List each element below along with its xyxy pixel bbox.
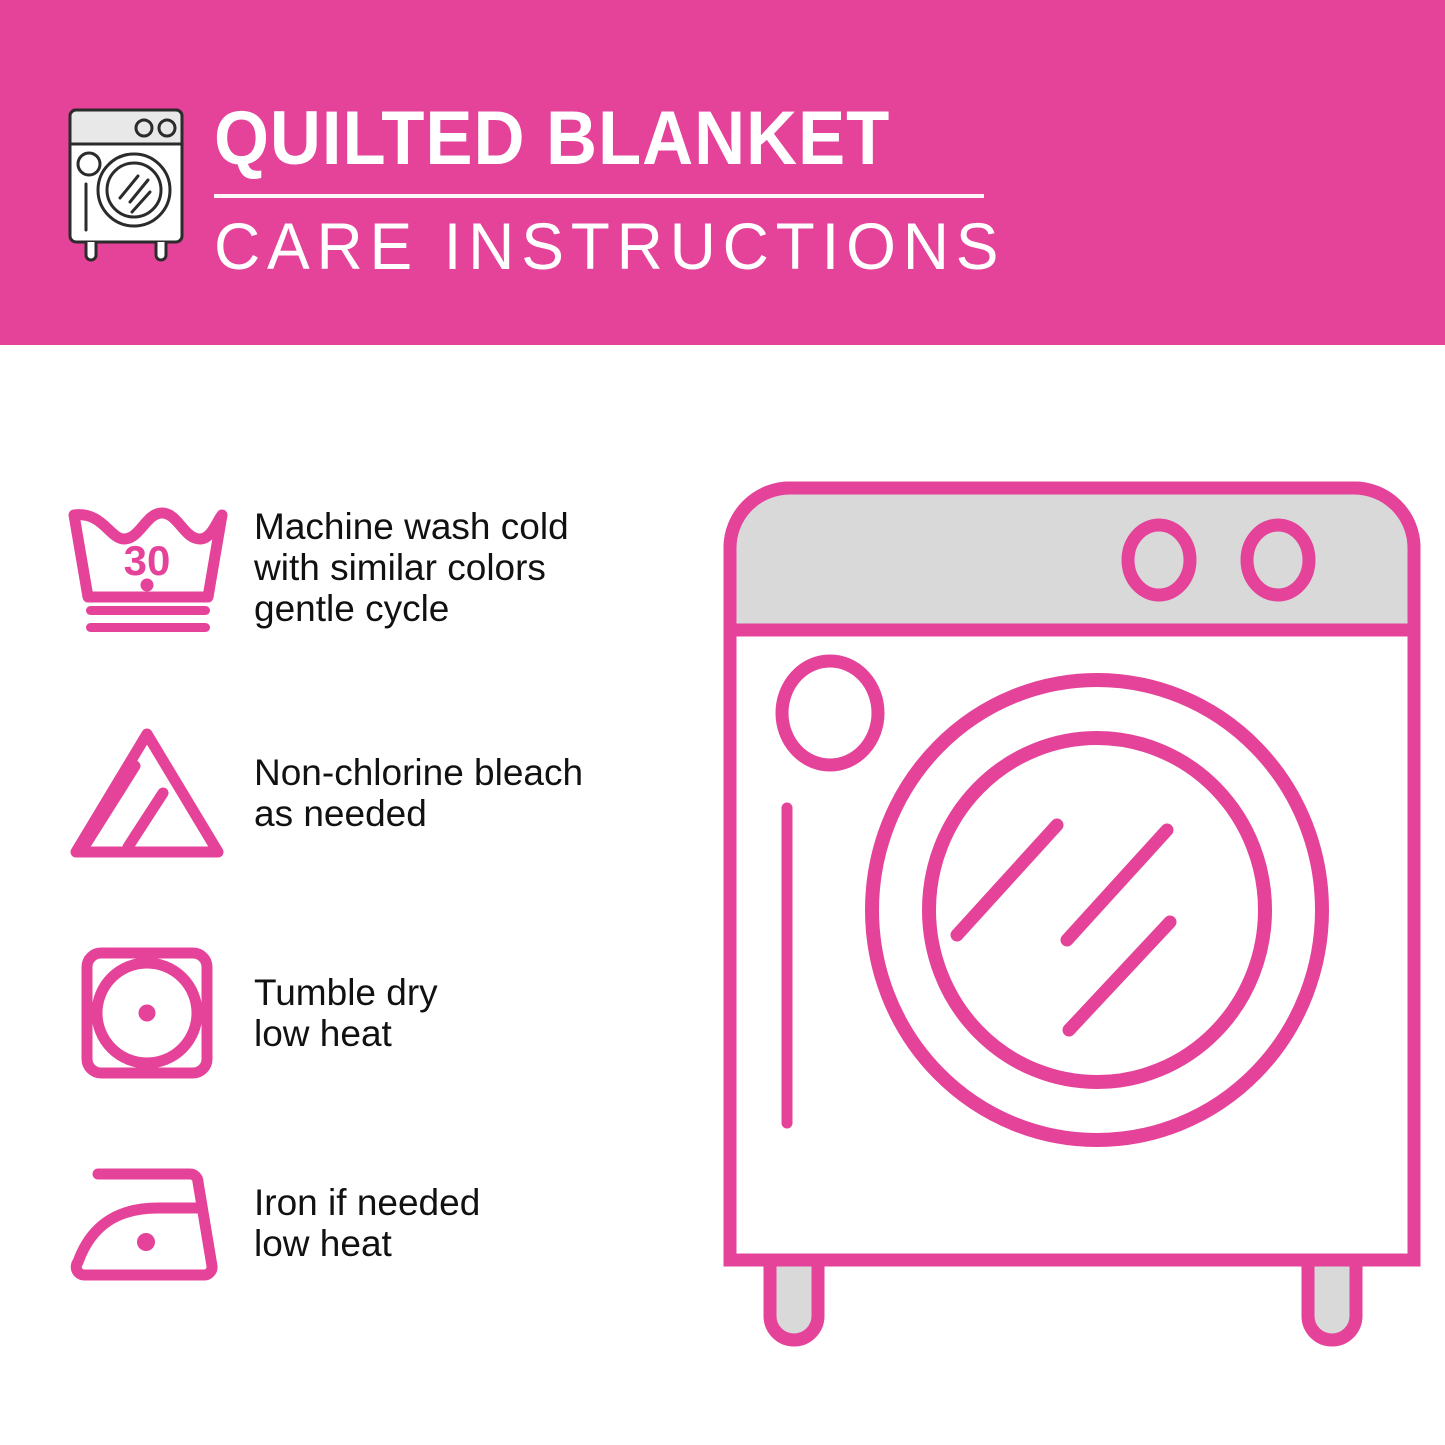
wash-temperature-value: 30	[124, 537, 171, 584]
large-washing-machine-illustration	[712, 470, 1432, 1370]
care-instruction-item: 30 Machine wash cold with similar colors…	[62, 490, 682, 645]
page-title: QUILTED BLANKET	[214, 100, 973, 178]
iron-low-heat-icon	[62, 1145, 232, 1300]
care-instruction-item: Iron if needed low heat	[62, 1145, 682, 1300]
care-instruction-text: Non-chlorine bleach as needed	[254, 752, 583, 834]
tumble-dry-low-icon	[62, 935, 232, 1090]
care-text-line: as needed	[254, 793, 583, 834]
care-text-line: Iron if needed	[254, 1182, 480, 1223]
care-text-line: gentle cycle	[254, 588, 569, 629]
care-instruction-text: Iron if needed low heat	[254, 1182, 480, 1264]
washing-machine-icon	[62, 102, 190, 262]
care-text-line: Non-chlorine bleach	[254, 752, 583, 793]
care-instruction-item: Tumble dry low heat	[62, 935, 682, 1090]
title-divider	[214, 194, 984, 198]
care-text-line: Machine wash cold	[254, 506, 569, 547]
care-instruction-text: Tumble dry low heat	[254, 972, 438, 1054]
care-instruction-list: 30 Machine wash cold with similar colors…	[0, 345, 700, 1445]
care-text-line: low heat	[254, 1223, 480, 1264]
header-titles: QUILTED BLANKET CARE INSTRUCTIONS	[214, 98, 1030, 280]
care-text-line: Tumble dry	[254, 972, 438, 1013]
care-instruction-text: Machine wash cold with similar colors ge…	[254, 506, 569, 629]
page-subtitle: CARE INSTRUCTIONS	[214, 212, 1005, 280]
washer-leg	[1308, 1260, 1356, 1340]
care-instruction-item: Non-chlorine bleach as needed	[62, 715, 682, 870]
non-chlorine-bleach-triangle-icon	[62, 715, 232, 870]
header-content: QUILTED BLANKET CARE INSTRUCTIONS	[62, 98, 1030, 280]
wash-tub-30-gentle-icon: 30	[62, 490, 232, 645]
care-text-line: low heat	[254, 1013, 438, 1054]
washer-leg	[770, 1260, 818, 1340]
care-text-line: with similar colors	[254, 547, 569, 588]
header-banner: QUILTED BLANKET CARE INSTRUCTIONS	[0, 0, 1445, 345]
